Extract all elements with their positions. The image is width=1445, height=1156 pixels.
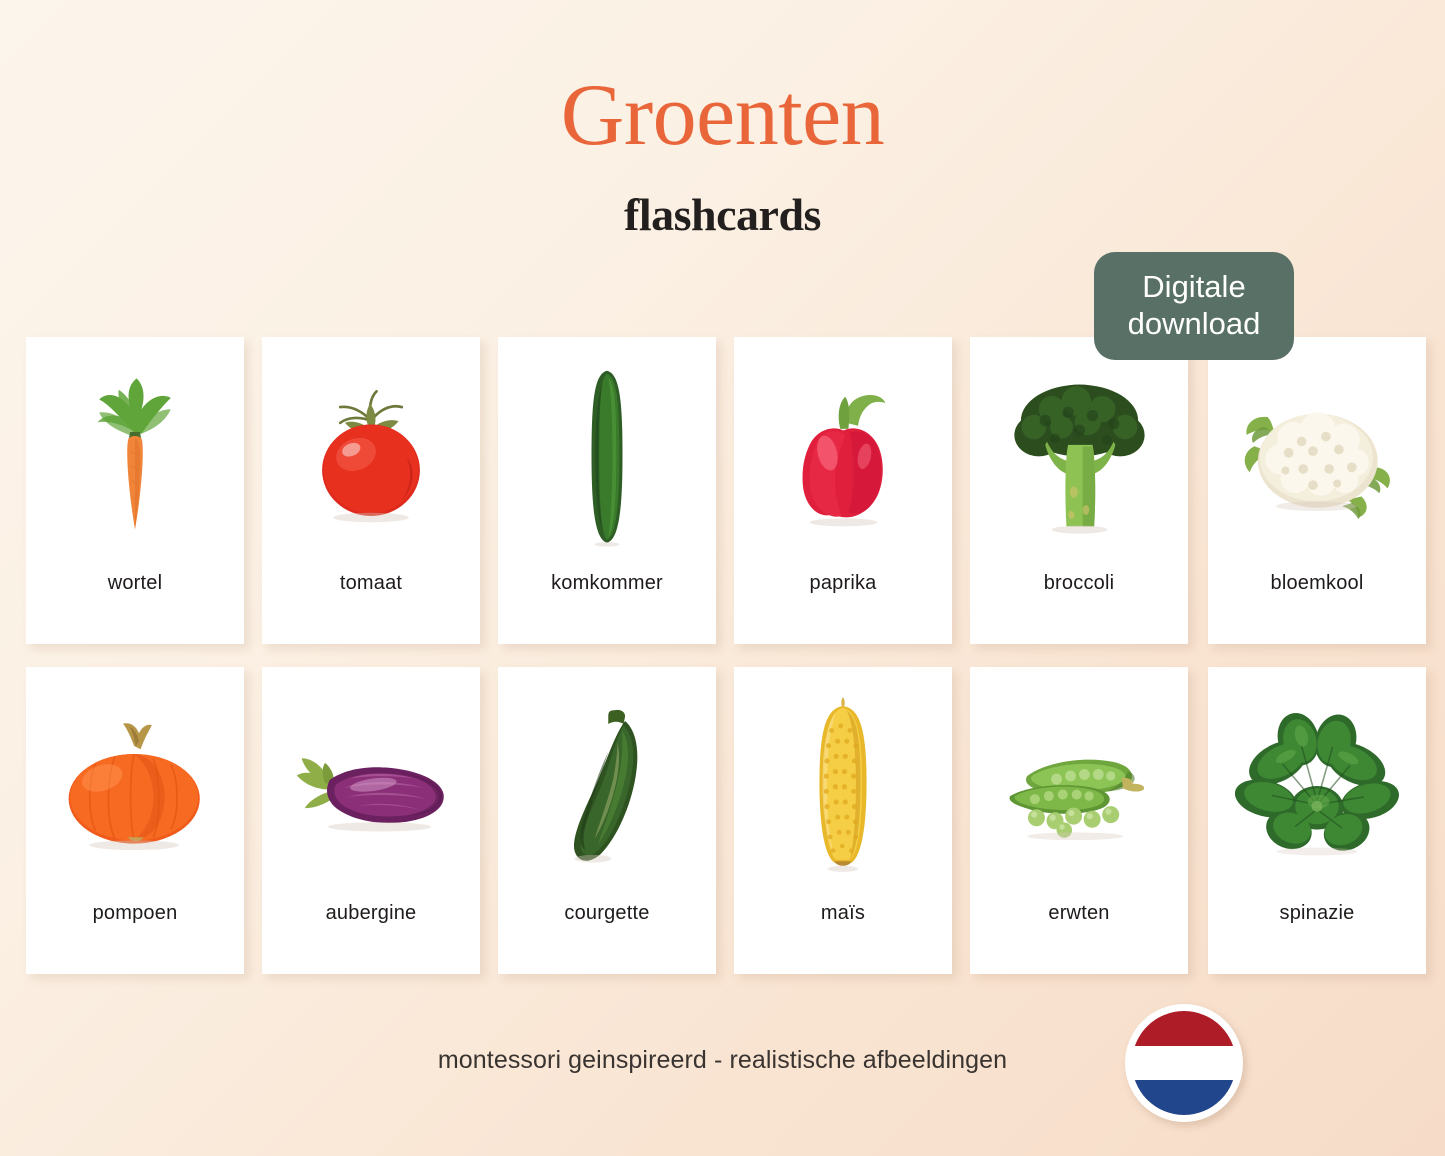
flashcard-bloemkool[interactable]: bloemkool [1208,337,1426,644]
badge-line-2: download [1128,306,1261,343]
eggplant-icon [262,667,480,890]
flashcard-mas[interactable]: maïs [734,667,952,974]
flashcard-tomaat[interactable]: tomaat [262,337,480,644]
flashcard-aubergine[interactable]: aubergine [262,667,480,974]
netherlands-flag-icon [1125,1004,1243,1122]
flashcard-paprika[interactable]: paprika [734,337,952,644]
flashcard-label: spinazie [1280,890,1355,974]
corn-icon [734,667,952,890]
flashcard-grid: wortel tomaat komkommer paprik [26,337,1445,974]
flag-stripe-blue [1132,1080,1236,1115]
flashcard-erwten[interactable]: erwten [970,667,1188,974]
pumpkin-icon [26,667,244,890]
broccoli-icon [970,337,1188,560]
flashcard-pompoen[interactable]: pompoen [26,667,244,974]
flashcard-label: maïs [821,890,865,974]
flag-stripe-red [1132,1011,1236,1046]
flashcard-spinazie[interactable]: spinazie [1208,667,1426,974]
page-title: Groenten [0,72,1445,160]
flashcard-label: tomaat [340,560,402,644]
flag-stripes [1132,1011,1236,1115]
flashcard-label: broccoli [1044,560,1115,644]
bell-pepper-icon [734,337,952,560]
page-header: Groenten flashcards [0,0,1445,238]
flashcard-label: aubergine [326,890,417,974]
flashcard-label: courgette [564,890,649,974]
flashcard-courgette[interactable]: courgette [498,667,716,974]
flashcard-label: paprika [810,560,877,644]
tomato-icon [262,337,480,560]
flashcard-label: wortel [108,560,163,644]
flashcard-label: bloemkool [1271,560,1364,644]
flashcard-broccoli[interactable]: broccoli [970,337,1188,644]
spinach-icon [1208,667,1426,890]
page-subtitle: flashcards [0,192,1445,238]
cauliflower-icon [1208,337,1426,560]
flashcard-komkommer[interactable]: komkommer [498,337,716,644]
badge-line-1: Digitale [1142,269,1245,306]
flashcard-wortel[interactable]: wortel [26,337,244,644]
zucchini-icon [498,667,716,890]
peas-icon [970,667,1188,890]
digital-download-badge: Digitale download [1094,252,1294,360]
flag-stripe-white [1132,1046,1236,1081]
flashcard-label: komkommer [551,560,663,644]
flashcard-label: erwten [1048,890,1109,974]
flashcard-label: pompoen [93,890,178,974]
cucumber-icon [498,337,716,560]
carrot-icon [26,337,244,560]
